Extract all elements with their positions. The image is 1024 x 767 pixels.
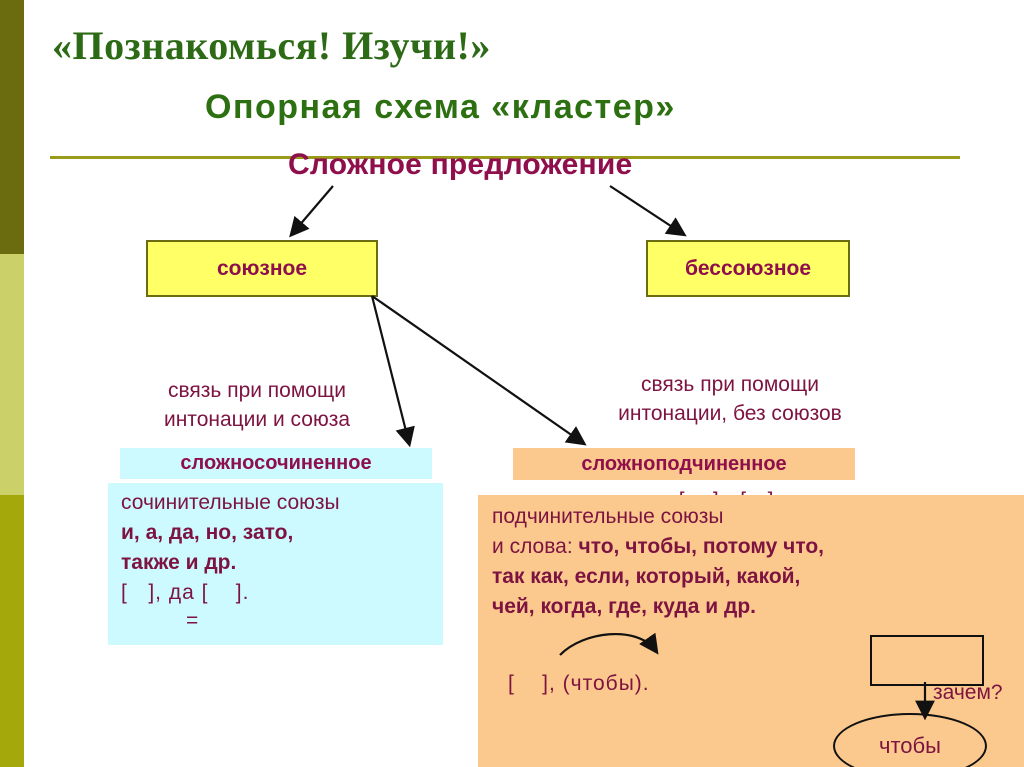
page-subtitle: Опорная схема «кластер» — [205, 88, 676, 127]
description-bessoyuznoe-text: связь при помощи интонации, без союзов — [540, 370, 920, 428]
sidebar-band-dark — [0, 0, 24, 254]
compound-line-3: также и др. — [121, 551, 236, 575]
topic-title: Сложное предложение — [288, 148, 632, 182]
compound-line-1: сочинительные союзы — [121, 491, 340, 515]
panel-complex-body: подчинительные союзы и слова: что, чтобы… — [478, 495, 1024, 767]
complex-inner-arrows — [478, 495, 1024, 767]
compound-scheme: [ ], да [ ]. — [121, 581, 249, 605]
panel-complex-heading[interactable]: сложноподчиненное — [513, 448, 855, 480]
page-title: «Познакомься! Изучи!» — [52, 22, 491, 69]
node-soyuznoe[interactable]: союзное — [146, 240, 378, 297]
slide-canvas: «Познакомься! Изучи!» Опорная схема «кла… — [0, 0, 1024, 767]
compound-scheme-mark: = — [186, 609, 198, 633]
panel-complex-heading-label: сложноподчиненное — [581, 453, 786, 476]
arrow-to-bessoyuznoe — [610, 186, 683, 234]
sidebar-band-olive — [0, 495, 24, 767]
arrow-to-soyuznoe — [292, 186, 333, 234]
panel-compound-heading[interactable]: сложносочиненное — [120, 448, 432, 479]
compound-line-2: и, а, да, но, зато, — [121, 521, 293, 545]
panel-compound-heading-label: сложносочиненное — [180, 452, 371, 475]
node-bessoyuznoe[interactable]: бессоюзное — [646, 240, 850, 297]
sidebar-band-light — [0, 254, 24, 495]
node-soyuznoe-label: союзное — [217, 257, 307, 281]
node-bessoyuznoe-label: бессоюзное — [685, 257, 811, 281]
panel-compound-body: сочинительные союзы и, а, да, но, зато, … — [108, 483, 443, 645]
curved-arrow-icon — [560, 634, 656, 655]
description-soyuznoe-text: связь при помощи интонации и союза — [92, 376, 422, 434]
